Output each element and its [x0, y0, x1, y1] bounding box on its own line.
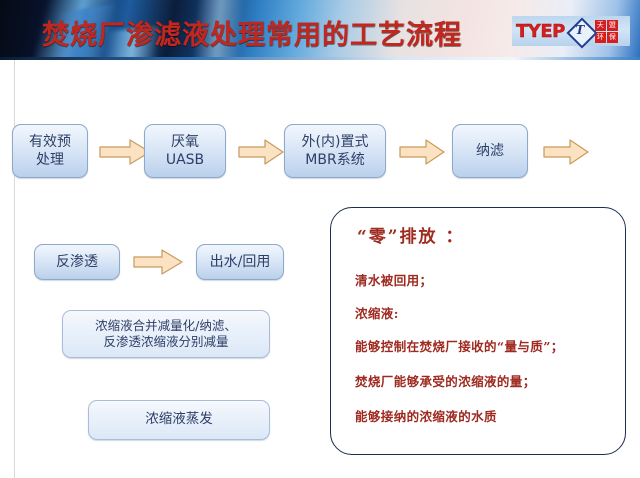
flow-box-effluent-reuse[interactable]: 出水/回用: [196, 244, 284, 280]
flow-box-concentrate-reduction[interactable]: 浓缩液合并减量化/纳滤、 反渗透浓缩液分别减量: [62, 310, 270, 358]
flow-box-pretreatment[interactable]: 有效预 处理: [12, 124, 88, 178]
logo-grid-char: 保: [607, 32, 618, 43]
callout-heading: “零”排放 ：: [357, 222, 464, 247]
logo-grid-char: 盟: [607, 20, 618, 31]
logo-diamond-letter: T: [568, 23, 592, 37]
flow-box-concentrate-evaporation[interactable]: 浓缩液蒸发: [88, 400, 270, 440]
logo-character-grid: 天 盟 环 保: [595, 20, 618, 43]
slide-canvas: 焚烧厂渗滤液处理常用的工艺流程 TYEP T 天 盟 环 保 有效预 处理 厌氧…: [0, 0, 640, 478]
page-title: 焚烧厂渗滤液处理常用的工艺流程: [42, 13, 462, 52]
flow-box-reverse-osmosis[interactable]: 反渗透: [34, 244, 120, 280]
logo-grid-char: 天: [595, 20, 606, 31]
flow-arrow-3: [398, 138, 446, 166]
callout-line-2: 浓缩液:: [355, 303, 399, 322]
company-logo: TYEP T 天 盟 环 保: [512, 16, 630, 46]
callout-line-1: 清水被回用；: [355, 270, 432, 289]
slide-left-rule: [14, 60, 15, 478]
flow-box-mbr-system[interactable]: 外(内)置式 MBR系统: [284, 124, 386, 178]
banner-bottom-rule: [0, 57, 640, 60]
flow-arrow-2: [237, 138, 285, 166]
callout-line-5: 能够接纳的浓缩液的水质: [355, 406, 497, 425]
logo-diamond-icon: T: [568, 19, 592, 43]
zero-discharge-callout: “零”排放 ： 清水被回用； 浓缩液: 能够控制在焚烧厂接收的“量与质”； 焚烧…: [330, 207, 626, 455]
flow-box-nanofiltration[interactable]: 纳滤: [452, 124, 528, 178]
flow-box-anaerobic-uasb[interactable]: 厌氧 UASB: [144, 124, 226, 178]
logo-wordmark: TYEP: [516, 21, 565, 42]
flow-arrow-4: [542, 138, 590, 166]
callout-line-4: 焚烧厂能够承受的浓缩液的量；: [355, 371, 536, 390]
flow-arrow-5: [132, 248, 184, 276]
callout-line-3: 能够控制在焚烧厂接收的“量与质”；: [355, 336, 564, 355]
